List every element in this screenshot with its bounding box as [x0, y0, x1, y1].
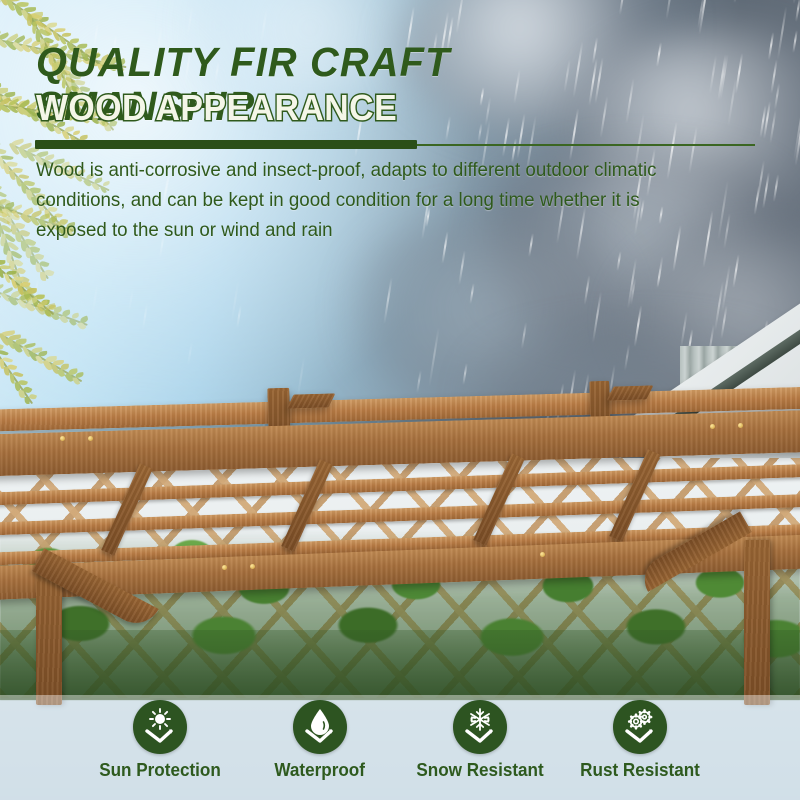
- pergola-block: [286, 393, 335, 408]
- feature-sun-protection: Sun Protection: [80, 700, 240, 781]
- product-feature-banner: QUALITY FIR CRAFT SMANSHIP WOOD APPEARAN…: [0, 0, 800, 800]
- page-subtitle: WOOD APPEARANCE: [36, 88, 638, 128]
- title-divider: [35, 140, 755, 149]
- gear-icon: [613, 700, 667, 754]
- screw-head: [222, 565, 227, 570]
- screw-head: [88, 436, 93, 441]
- pergola-post: [744, 540, 770, 705]
- feature-rust-resistant: Rust Resistant: [560, 700, 720, 781]
- feature-waterproof: Waterproof: [240, 700, 400, 781]
- sun-icon: [133, 700, 187, 754]
- feature-label: Waterproof: [275, 760, 366, 781]
- pergola-block: [606, 385, 653, 400]
- feature-label: Rust Resistant: [580, 760, 700, 781]
- feature-label: Sun Protection: [99, 760, 221, 781]
- screw-head: [60, 436, 65, 441]
- water-drop-icon: [293, 700, 347, 754]
- description-text: Wood is anti-corrosive and insect-proof,…: [36, 155, 689, 245]
- ivy-shadow: [0, 630, 800, 700]
- feature-snow-resistant: Snow Resistant: [400, 700, 560, 781]
- screw-head: [250, 564, 255, 569]
- pergola-structure: [0, 380, 800, 700]
- screw-head: [738, 423, 743, 428]
- feature-bar: Sun Protection Waterproof: [0, 695, 800, 800]
- snowflake-icon: [453, 700, 507, 754]
- screw-head: [540, 552, 545, 557]
- feature-label: Snow Resistant: [416, 760, 543, 781]
- screw-head: [710, 424, 715, 429]
